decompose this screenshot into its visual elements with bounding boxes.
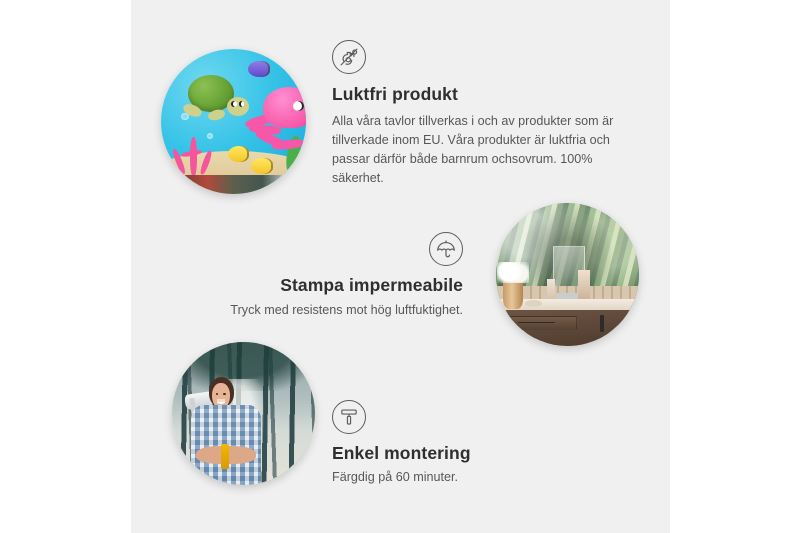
painter-forest-circle [172, 342, 315, 485]
feature-description: Alla våra tavlor tillverkas i och av pro… [332, 112, 624, 189]
handheld-tool [221, 444, 228, 469]
octopus-illustration [248, 87, 306, 154]
coral-plant [173, 133, 217, 177]
fish-illustration [251, 158, 273, 174]
product-feature-banner: Luktfri produkt Alla våra tavlor tillver… [0, 0, 800, 533]
umbrella-icon [429, 232, 463, 266]
bathroom-wallpaper-circle [496, 203, 639, 346]
painter-person [186, 371, 269, 485]
feature-title: Luktfri produkt [332, 84, 624, 105]
fish-illustration [228, 146, 250, 162]
feature-odourless: Luktfri produkt Alla våra tavlor tillver… [332, 40, 624, 189]
toiletry-bottle [578, 270, 591, 299]
toiletry-bottle [547, 279, 554, 299]
feature-title: Stampa impermeabile [205, 275, 463, 296]
feature-waterproof: Stampa impermeabile Tryck med resistens … [205, 232, 463, 320]
feature-mounting: Enkel montering Färgdig på 60 minuter. [332, 400, 552, 487]
underwater-cartoon-circle [161, 49, 306, 194]
scene-foreground-strip [161, 175, 306, 194]
paint-roller-icon [332, 400, 366, 434]
feature-description: Färgdig på 60 minuter. [332, 468, 552, 487]
white-flowers [497, 262, 528, 283]
no-fragrance-icon [332, 40, 366, 74]
wooden-vanity-cabinet [499, 310, 639, 346]
fish-illustration [248, 61, 270, 77]
feature-description: Tryck med resistens mot hög luftfuktighe… [205, 301, 463, 320]
feature-title: Enkel montering [332, 443, 552, 464]
turtle-illustration [183, 75, 247, 123]
